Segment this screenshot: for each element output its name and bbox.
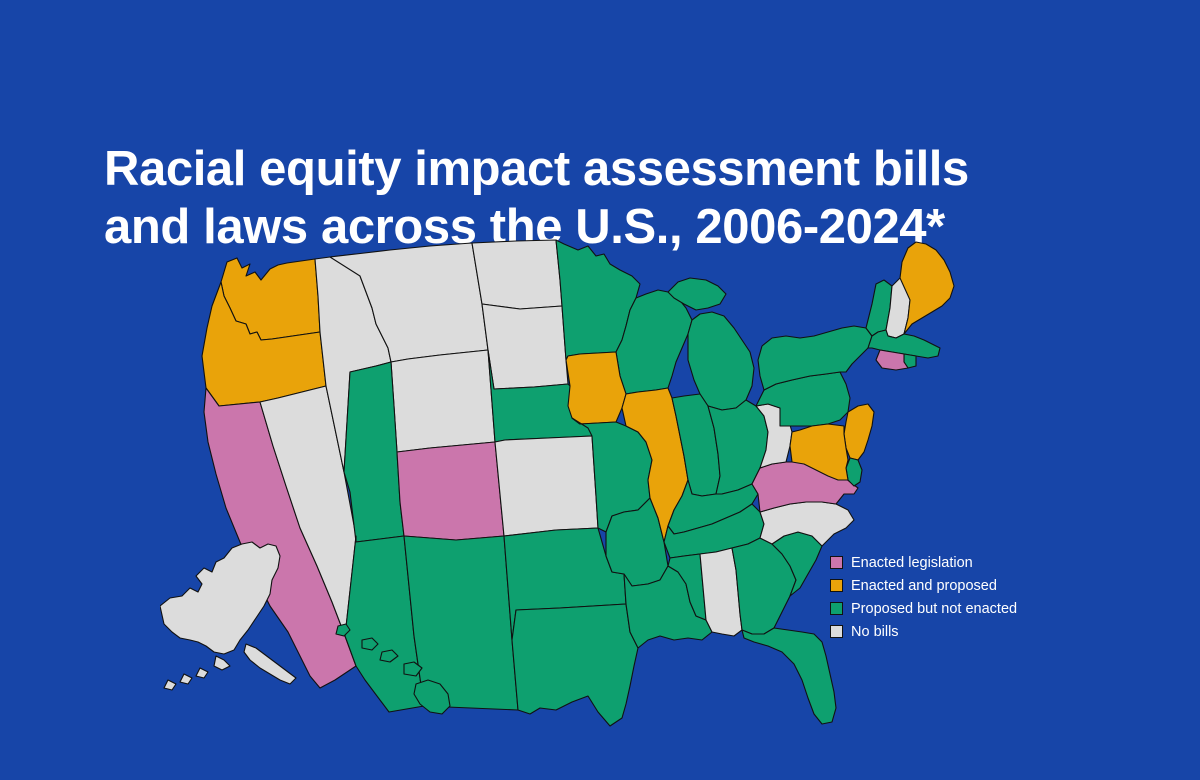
state-NJ[interactable]: New Jersey — Enacted and proposed <box>844 404 874 460</box>
legend-swatch-no-bills <box>830 625 843 638</box>
state-FL[interactable]: Florida — Proposed but not enacted <box>742 628 836 724</box>
state-SD[interactable]: South Dakota — No bills <box>482 304 568 389</box>
state-TX[interactable]: Texas — Proposed but not enacted <box>512 604 638 726</box>
legend-swatch-enacted-and-proposed <box>830 579 843 592</box>
state-ND[interactable]: North Dakota — No bills <box>472 240 562 309</box>
legend-label-enacted: Enacted legislation <box>851 555 973 571</box>
infographic-page: Racial equity impact assessment bills an… <box>0 0 1200 780</box>
state-ME[interactable]: Maine — Enacted and proposed <box>900 242 954 334</box>
legend-item-enacted[interactable]: Enacted legislation <box>830 552 1070 573</box>
legend-item-proposed[interactable]: Proposed but not enacted <box>830 598 1070 619</box>
us-map-svg: Washington — Enacted and proposed Oregon… <box>160 236 1080 736</box>
state-IA[interactable]: Iowa — Enacted and proposed <box>566 352 626 424</box>
state-CO[interactable]: Colorado — Enacted legislation <box>397 442 504 540</box>
legend-item-enacted-and-proposed[interactable]: Enacted and proposed <box>830 575 1070 596</box>
state-KS[interactable]: Kansas — No bills <box>495 436 598 536</box>
legend-label-proposed: Proposed but not enacted <box>851 601 1017 617</box>
legend-item-no-bills[interactable]: No bills <box>830 621 1070 642</box>
legend-label-no-bills: No bills <box>851 624 899 640</box>
state-AK[interactable]: Alaska — No bills <box>160 542 296 690</box>
us-choropleth-map: Washington — Enacted and proposed Oregon… <box>160 236 1080 736</box>
legend-swatch-enacted <box>830 556 843 569</box>
state-WY[interactable]: Wyoming — No bills <box>391 350 495 452</box>
legend-label-enacted-and-proposed: Enacted and proposed <box>851 578 997 594</box>
map-legend: Enacted legislation Enacted and proposed… <box>830 552 1070 644</box>
legend-swatch-proposed <box>830 602 843 615</box>
